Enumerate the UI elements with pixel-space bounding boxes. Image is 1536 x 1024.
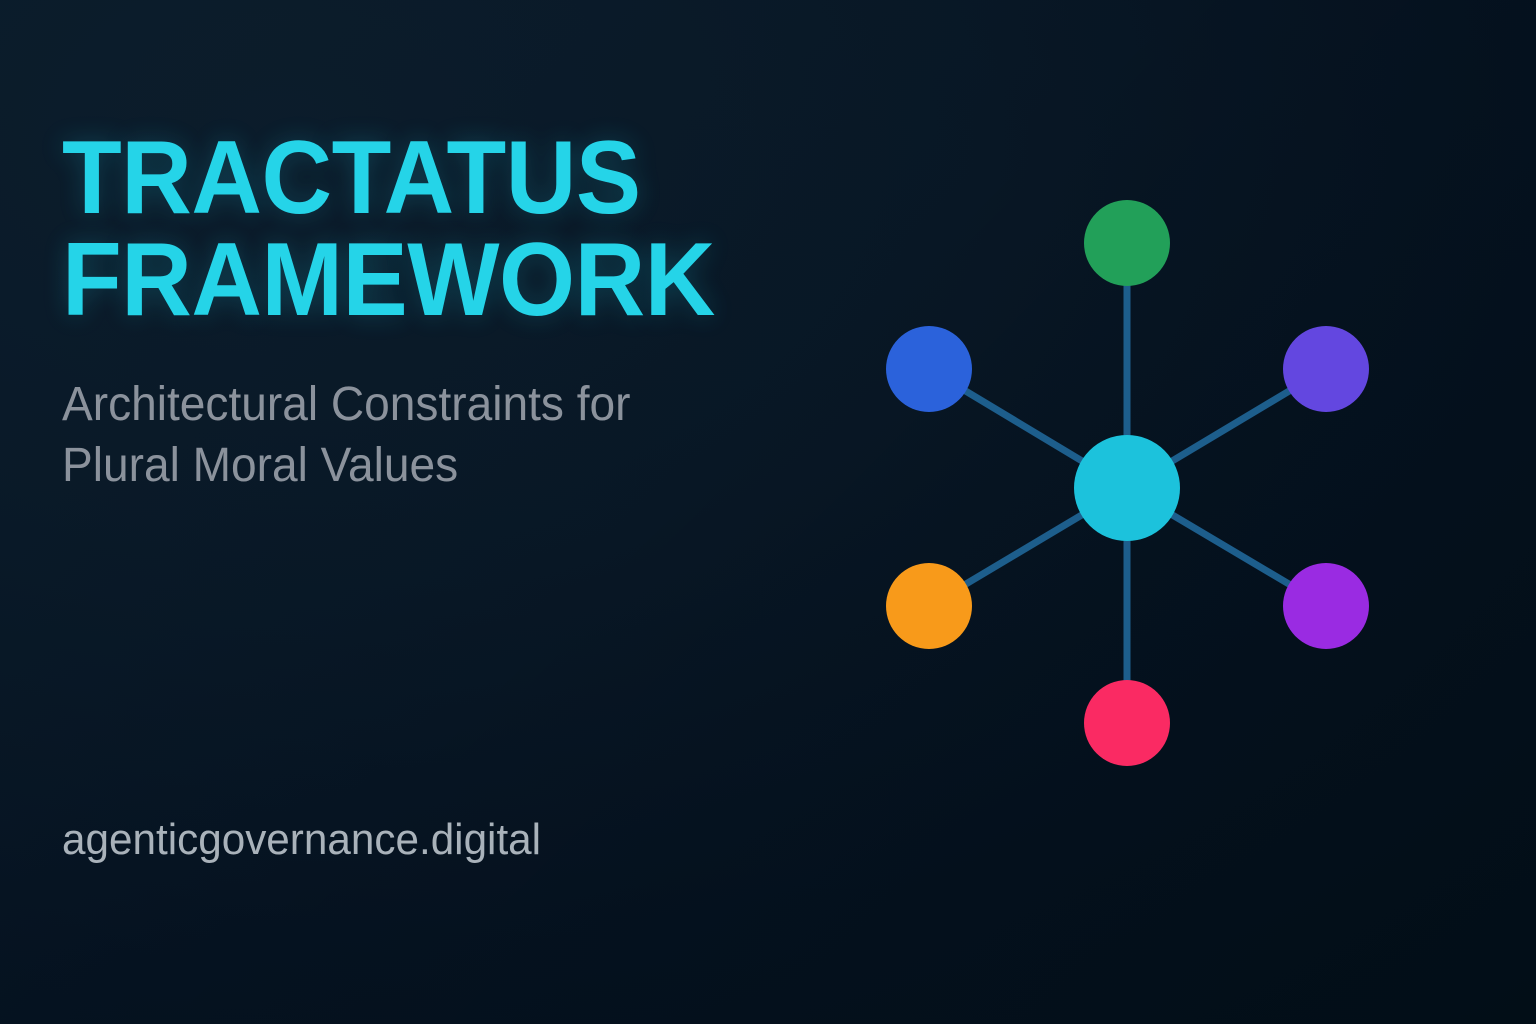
- node-orange-lower-left: [886, 563, 972, 649]
- node-green-top: [1084, 200, 1170, 286]
- node-purple-lower-right: [1283, 563, 1369, 649]
- node-blue-upper-left: [886, 326, 972, 412]
- site-url[interactable]: agenticgovernance.digital: [62, 818, 541, 862]
- page-subtitle: Architectural Constraints for Plural Mor…: [62, 374, 792, 497]
- diagram-nodes: [886, 200, 1369, 766]
- hero-text-block: TRACTATUS FRAMEWORK Architectural Constr…: [62, 128, 822, 497]
- node-pink-bottom: [1084, 680, 1170, 766]
- page-title: TRACTATUS FRAMEWORK: [62, 128, 776, 332]
- title-card: TRACTATUS FRAMEWORK Architectural Constr…: [0, 0, 1536, 1024]
- node-indigo-upper-right: [1283, 326, 1369, 412]
- center-node: [1074, 435, 1180, 541]
